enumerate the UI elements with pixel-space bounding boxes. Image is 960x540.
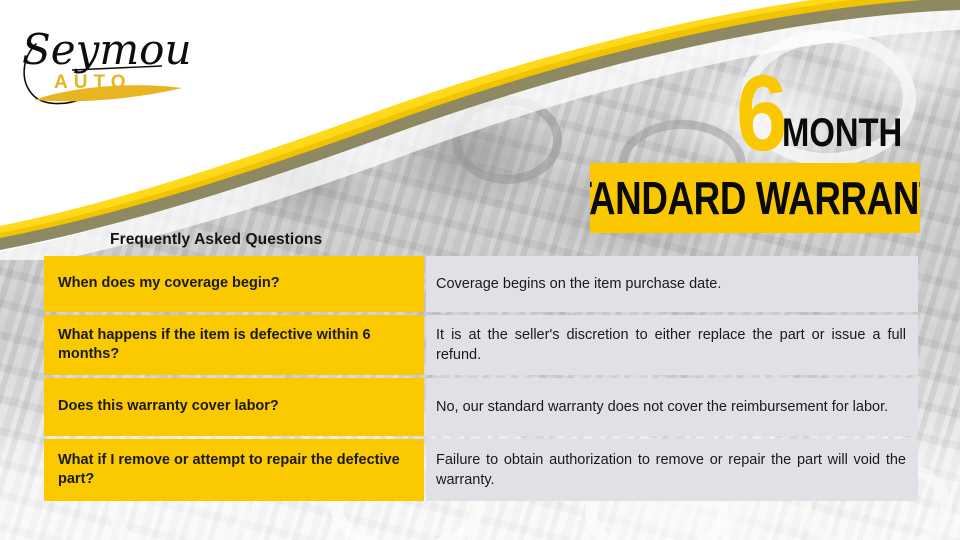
warranty-duration-number: 6 xyxy=(736,69,786,158)
faq-answer-cell: No, our standard warranty does not cover… xyxy=(426,378,918,436)
faq-answer-cell: It is at the seller's discretion to eith… xyxy=(426,315,918,375)
table-row: When does my coverage begin? Coverage be… xyxy=(44,256,918,312)
faq-table: When does my coverage begin? Coverage be… xyxy=(44,256,918,501)
faq-answer-cell: Failure to obtain authorization to remov… xyxy=(426,439,918,501)
faq-answer-cell: Coverage begins on the item purchase dat… xyxy=(426,256,918,312)
standard-warranty-banner: STANDARD WARRANTY xyxy=(590,163,920,233)
faq-question-cell: What happens if the item is defective wi… xyxy=(44,315,424,375)
brand-logo-wordmark: Seymour xyxy=(22,25,194,74)
faq-question-cell: Does this warranty cover labor? xyxy=(44,378,424,436)
table-row: What if I remove or attempt to repair th… xyxy=(44,439,918,501)
faq-question-cell: What if I remove or attempt to repair th… xyxy=(44,439,424,501)
faq-heading: Frequently Asked Questions xyxy=(110,231,322,249)
brand-logo: Seymour AUTO xyxy=(14,14,194,106)
faq-question-cell: When does my coverage begin? xyxy=(44,256,424,312)
table-row: Does this warranty cover labor? No, our … xyxy=(44,378,918,436)
table-row: What happens if the item is defective wi… xyxy=(44,315,918,375)
warranty-duration: 6 MONTH xyxy=(730,52,930,158)
slide-root: Seymour AUTO 6 MONTH STANDARD WARRANTY F… xyxy=(0,0,960,540)
warranty-duration-unit: MONTH xyxy=(782,114,902,152)
standard-warranty-banner-text: STANDARD WARRANTY xyxy=(590,175,920,221)
